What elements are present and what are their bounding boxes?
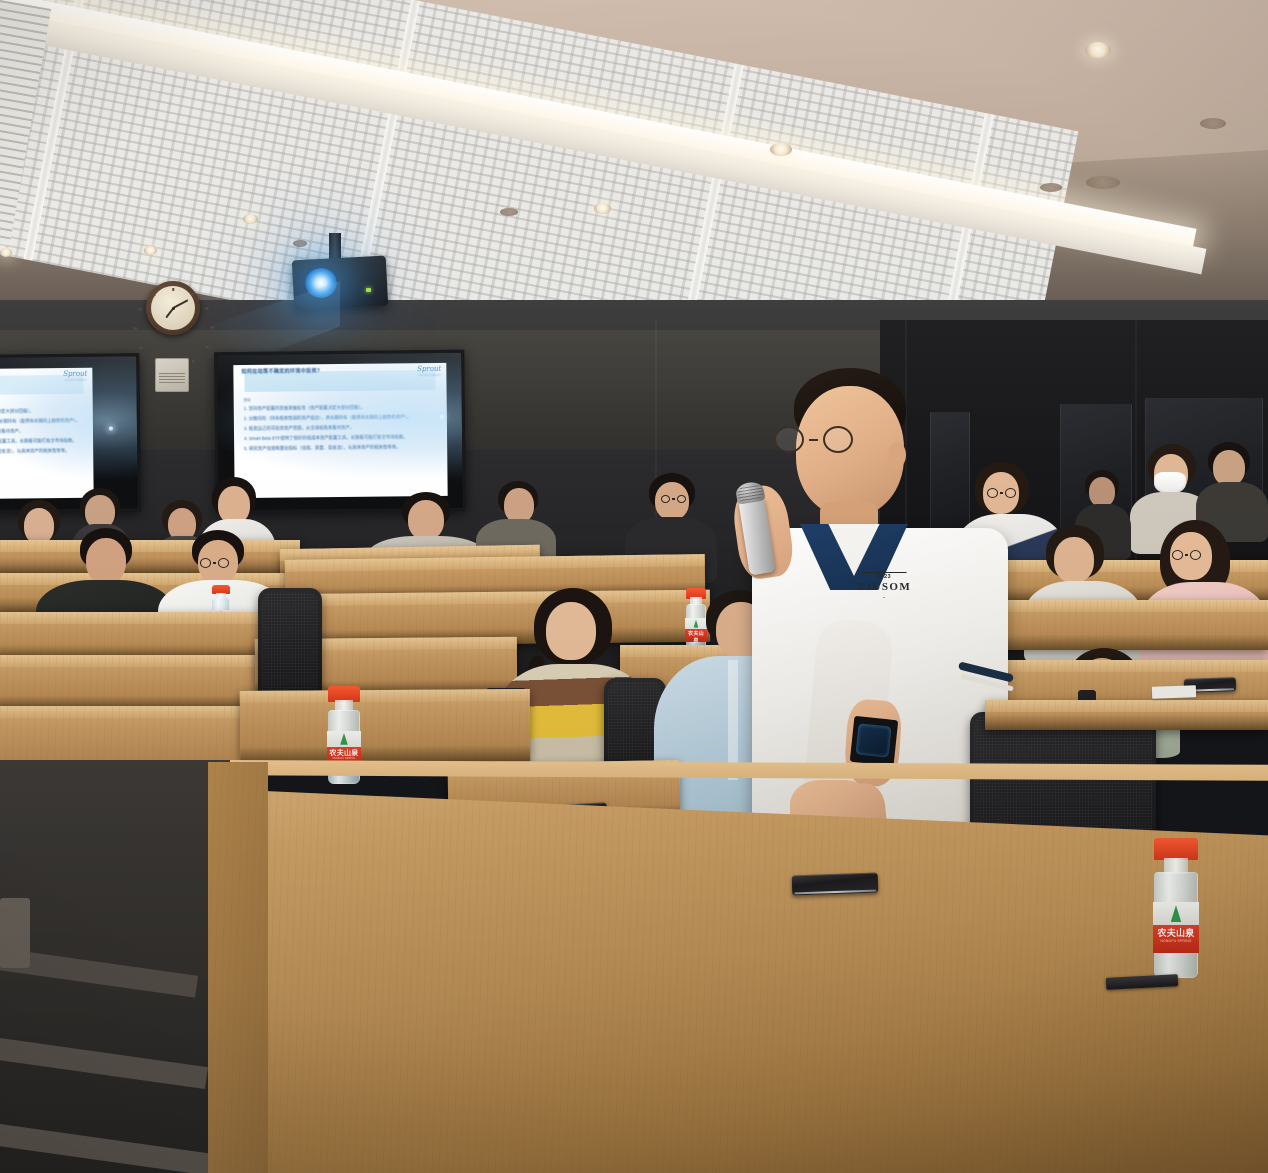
- ceiling-downlight: [770, 143, 792, 156]
- slide-surface: 如何在动荡不确定的环境中投资? Sprout INVESTMENT 结论 1. …: [0, 368, 94, 500]
- ceiling-recess: [1040, 183, 1062, 192]
- lecture-hall-photo: A tiered university lecture hall. A youn…: [0, 0, 1268, 1173]
- bottle-brand-en: NONGFU SPRING: [328, 757, 360, 760]
- slide-logo: Sprout: [417, 365, 441, 373]
- desk-tier-right-upper: [985, 700, 1268, 730]
- clock-center-pin: [172, 307, 175, 310]
- wall-clock: [146, 281, 200, 335]
- slide-bullet-list: 1. 坚持资产配置的思维来做投资（资产配置决定大部分回报）。 2. 分散风险（持…: [244, 404, 440, 456]
- bottle-brand-en: NONGFU SPRING: [1154, 939, 1198, 943]
- smartwatch-face: [856, 723, 892, 757]
- desk-tier-4-left: [0, 655, 262, 711]
- desk-tier-3-left: [0, 612, 275, 660]
- clock-minute-hand: [173, 299, 189, 309]
- paper-note: [1152, 685, 1196, 699]
- desk-tier-5-center: [240, 689, 530, 763]
- shirt-logo-year: 2023: [836, 575, 932, 581]
- ceiling-downlight: [1085, 42, 1111, 58]
- slide-bullet: 2. 分散风险（持有相关性弱的资产组合），并长期持有（股债有长期向上趋势的资产）…: [0, 418, 85, 427]
- ceiling-recess: [500, 208, 518, 216]
- shirt-placket: [728, 660, 738, 780]
- desk-side-panel: [208, 762, 268, 1173]
- wall-speaker: [155, 358, 189, 392]
- eyeglasses: [774, 426, 853, 453]
- face-mask: [1154, 472, 1186, 494]
- slide-logo-subtitle: INVESTMENT: [419, 374, 442, 377]
- slide-bullet: 3. 拓宽自己的可投资资产范围，从全球视角来看待资产。: [244, 424, 439, 433]
- smartwatch[interactable]: [850, 716, 899, 766]
- speaker-grill: [159, 373, 185, 383]
- slide-bullet: 3. 拓宽自己的可投资资产范围，从全球视角来看待资产。: [0, 428, 85, 437]
- bottle-brand-cn: 农夫山泉: [1154, 926, 1198, 939]
- projector-lens-icon: [305, 268, 337, 298]
- ceiling-recess: [1086, 176, 1120, 189]
- slide-bullet-list: 1. 坚持资产配置的思维来做投资（资产配置决定大部分回报）。 2. 分散风险（持…: [0, 408, 85, 460]
- slide-bullet: 5. 研究资产估值和量化指标（估值、质量、现金流），与具体资产的相关性等等。: [244, 444, 439, 453]
- shirt-logo-name: ZJUSOM: [836, 582, 932, 593]
- slide-bullet: 4. Smart Beta ETF提供了很好的低成本资产配置工具，长期看可能打败…: [0, 438, 85, 447]
- screen-reflection-hotspot: [109, 427, 113, 431]
- clock-face: [151, 286, 195, 330]
- shirt-logo: 2023 ZJUSOM: [836, 572, 932, 616]
- slide-bullet: 1. 坚持资产配置的思维来做投资（资产配置决定大部分回报）。: [244, 404, 439, 413]
- ceiling-downlight: [594, 203, 611, 214]
- slide-bullet: 5. 研究资产估值和量化指标（估值、质量、现金流），与具体资产的相关性等等。: [0, 448, 85, 457]
- projector-status-led: [366, 288, 371, 292]
- water-bottle[interactable]: 农夫山泉 NONGFU SPRING: [1154, 838, 1198, 978]
- ceiling-downlight: [0, 248, 12, 257]
- step-nosing: [0, 898, 30, 968]
- slide-logo: Sprout: [63, 370, 87, 378]
- slide-logo-subtitle: INVESTMENT: [65, 379, 88, 382]
- ceiling-recess: [293, 240, 307, 247]
- slide-title: 如何在动荡不确定的环境中投资?: [241, 367, 320, 375]
- slide-bullet: 1. 坚持资产配置的思维来做投资（资产配置决定大部分回报）。: [0, 408, 85, 417]
- smartphone[interactable]: [792, 873, 879, 896]
- slide-bullet: 2. 分散风险（持有相关性弱的资产组合），并长期持有（股债有长期向上趋势的资产）…: [244, 414, 439, 423]
- screen-reflection-hotspot: [440, 415, 444, 419]
- slide-subtitle: 结论: [244, 398, 251, 403]
- ear: [888, 442, 906, 468]
- ceiling-recess: [1200, 118, 1226, 129]
- slide-bullet: 4. Smart Beta ETF提供了很好的低成本资产配置工具，长期看可能打败…: [244, 434, 439, 443]
- ceiling-downlight: [243, 214, 258, 224]
- ceiling-downlight: [144, 246, 157, 255]
